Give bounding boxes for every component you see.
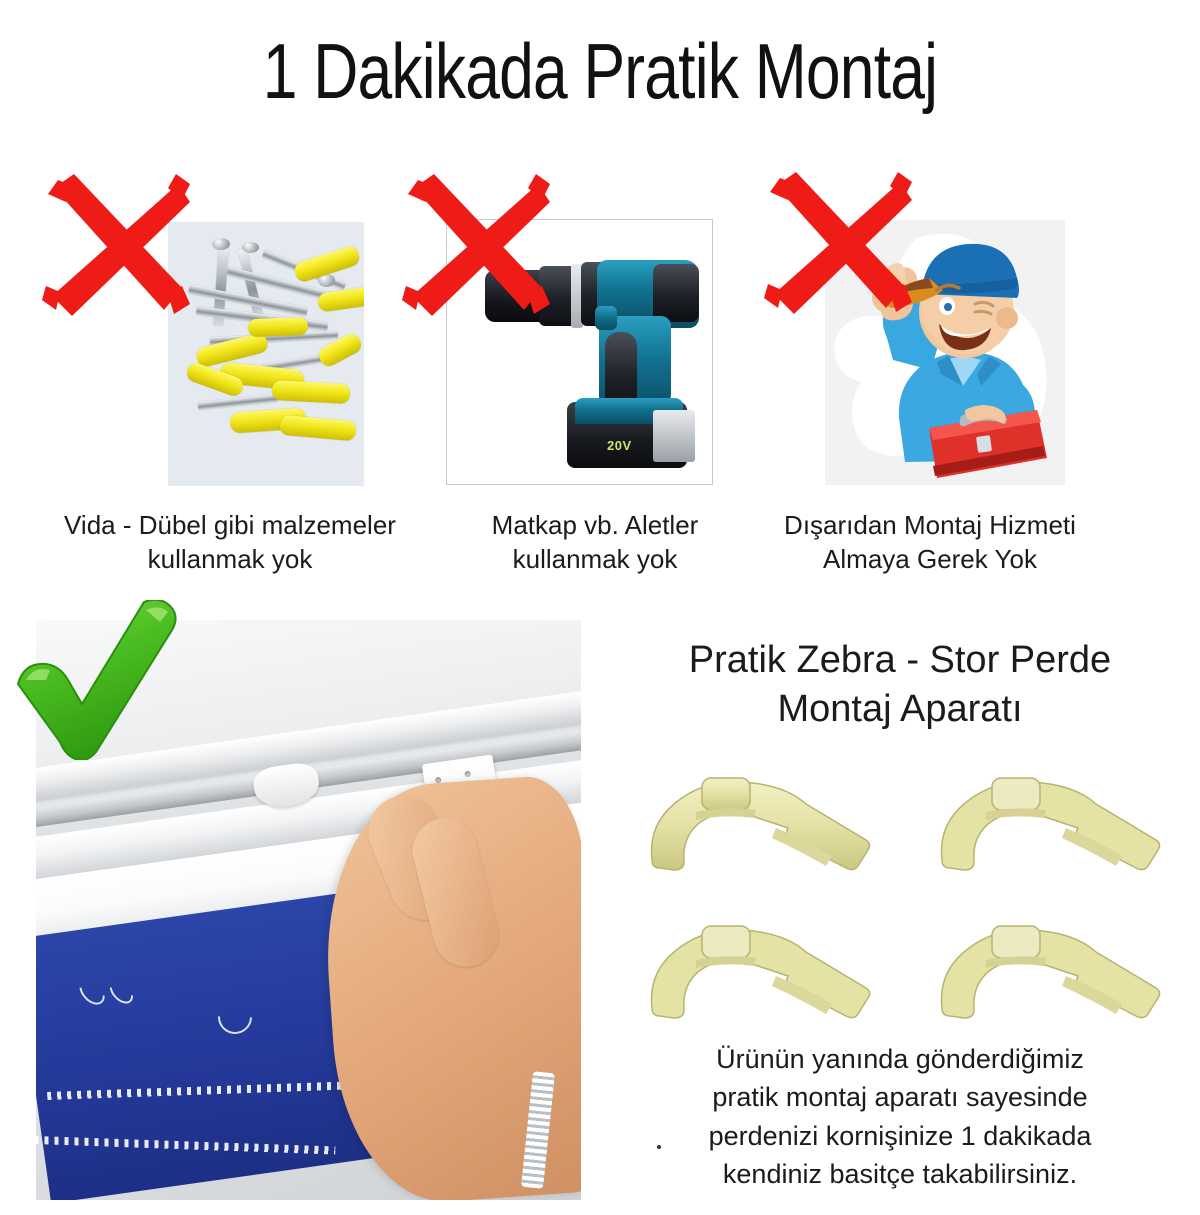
product-description-line3: perdenizi kornişinize 1 dakikada	[640, 1117, 1160, 1155]
caption-installer-line2: Almaya Gerek Yok	[755, 542, 1105, 576]
green-check-icon	[12, 600, 187, 760]
stray-dot-mark	[657, 1145, 661, 1149]
mounting-clips-grid	[628, 768, 1188, 1038]
product-description-line4: kendiniz basitçe takabilirsiniz.	[640, 1155, 1160, 1193]
drill-voltage-label: 20V	[607, 438, 632, 453]
product-description-line1: Ürünün yanında gönderdiğimiz	[640, 1040, 1160, 1078]
handyman-with-toolbox-illustration	[825, 220, 1065, 485]
product-heading: Pratik Zebra - Stor Perde Montaj Aparatı	[600, 636, 1200, 733]
caption-drill-line2: kullanmak yok	[445, 542, 745, 576]
product-description-line2: pratik montaj aparatı sayesinde	[640, 1078, 1160, 1116]
montaj-aparati-clip	[636, 916, 881, 1031]
infographic-canvas: 1 Dakikada Pratik Montaj	[0, 0, 1200, 1215]
page-title: 1 Dakikada Pratik Montaj	[120, 26, 1080, 117]
cordless-drill-photo: 20V	[446, 219, 713, 485]
montaj-aparati-clip	[636, 768, 881, 883]
caption-screws: Vida - Dübel gibi malzemeler kullanmak y…	[20, 508, 440, 577]
caption-installer: Dışarıdan Montaj Hizmeti Almaya Gerek Yo…	[755, 508, 1105, 577]
product-description: Ürünün yanında gönderdiğimiz pratik mont…	[640, 1040, 1160, 1193]
screws-and-wall-plugs-photo	[168, 222, 364, 486]
product-heading-line1: Pratik Zebra - Stor Perde	[600, 636, 1200, 685]
caption-installer-line1: Dışarıdan Montaj Hizmeti	[755, 508, 1105, 542]
montaj-aparati-clip	[926, 768, 1171, 883]
caption-screws-line1: Vida - Dübel gibi malzemeler	[20, 508, 440, 542]
caption-screws-line2: kullanmak yok	[20, 542, 440, 576]
montaj-aparati-clip	[926, 916, 1171, 1031]
caption-drill-line1: Matkap vb. Aletler	[445, 508, 745, 542]
caption-drill: Matkap vb. Aletler kullanmak yok	[445, 508, 745, 577]
product-heading-line2: Montaj Aparatı	[600, 685, 1200, 734]
